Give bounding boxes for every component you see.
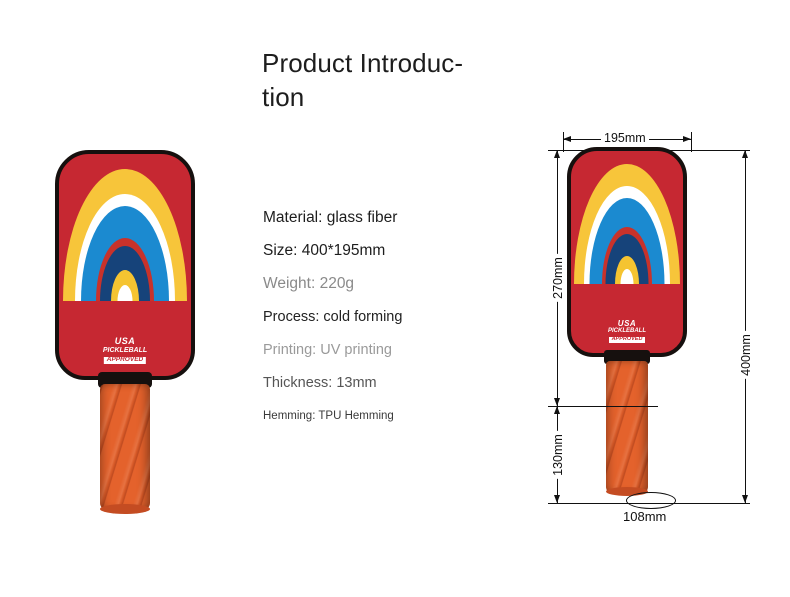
specification-list: Material: glass fiber Size: 400*195mm We… — [263, 208, 483, 436]
paddle-illustration-right: USA PICKLEBALL APPROVED — [567, 147, 687, 502]
dim-label-grip-108: 108mm — [620, 509, 669, 524]
dim-label-face-height-270: 270mm — [551, 254, 565, 302]
ext-line-left-top — [563, 132, 564, 152]
spec-item-thickness: Thickness: 13mm — [263, 373, 483, 406]
spec-item-size: Size: 400*195mm — [263, 241, 483, 274]
page-title-line-1: Product Introduc- — [262, 48, 463, 78]
paddle-grip — [100, 384, 150, 510]
badge-line-usa: USA — [608, 320, 646, 328]
usa-pickleball-approved-badge-right: USA PICKLEBALL APPROVED — [608, 320, 646, 343]
ext-line-face-bottom — [548, 406, 658, 407]
dim-label-total-height-400: 400mm — [739, 331, 753, 379]
dim-line-total-height-400 — [745, 150, 746, 503]
page-title: Product Introduc- tion — [262, 46, 522, 114]
badge-line-approved: APPROVED — [609, 337, 646, 343]
dim-label-handle-height-130: 130mm — [551, 431, 565, 479]
spec-item-weight: Weight: 220g — [263, 274, 483, 307]
spec-item-process: Process: cold forming — [263, 307, 483, 340]
paddle-face: USA PICKLEBALL APPROVED — [55, 150, 195, 380]
paddle-rainbow-graphic-right — [569, 147, 685, 284]
ext-line-right-top — [691, 132, 692, 152]
badge-line-approved: APPROVED — [104, 357, 146, 364]
spec-item-printing: Printing: UV printing — [263, 340, 483, 373]
paddle-face-dimensioned: USA PICKLEBALL APPROVED — [567, 147, 687, 357]
badge-line-usa: USA — [103, 337, 147, 346]
dim-label-width-195: 195mm — [601, 131, 649, 145]
page-title-line-2: tion — [262, 82, 304, 112]
paddle-illustration-left: USA PICKLEBALL APPROVED — [55, 150, 195, 510]
spec-item-hemming: Hemming: TPU Hemming — [263, 406, 483, 436]
grip-base-ellipse — [626, 492, 676, 509]
paddle-rainbow-graphic — [57, 151, 193, 301]
ext-line-face-top — [548, 150, 750, 151]
badge-line-pickleball: PICKLEBALL — [103, 347, 147, 354]
badge-line-pickleball: PICKLEBALL — [608, 328, 646, 334]
usa-pickleball-approved-badge: USA PICKLEBALL APPROVED — [103, 337, 147, 364]
paddle-grip-right — [606, 361, 648, 493]
spec-item-material: Material: glass fiber — [263, 208, 483, 241]
paddle-grip-cap — [100, 504, 150, 514]
